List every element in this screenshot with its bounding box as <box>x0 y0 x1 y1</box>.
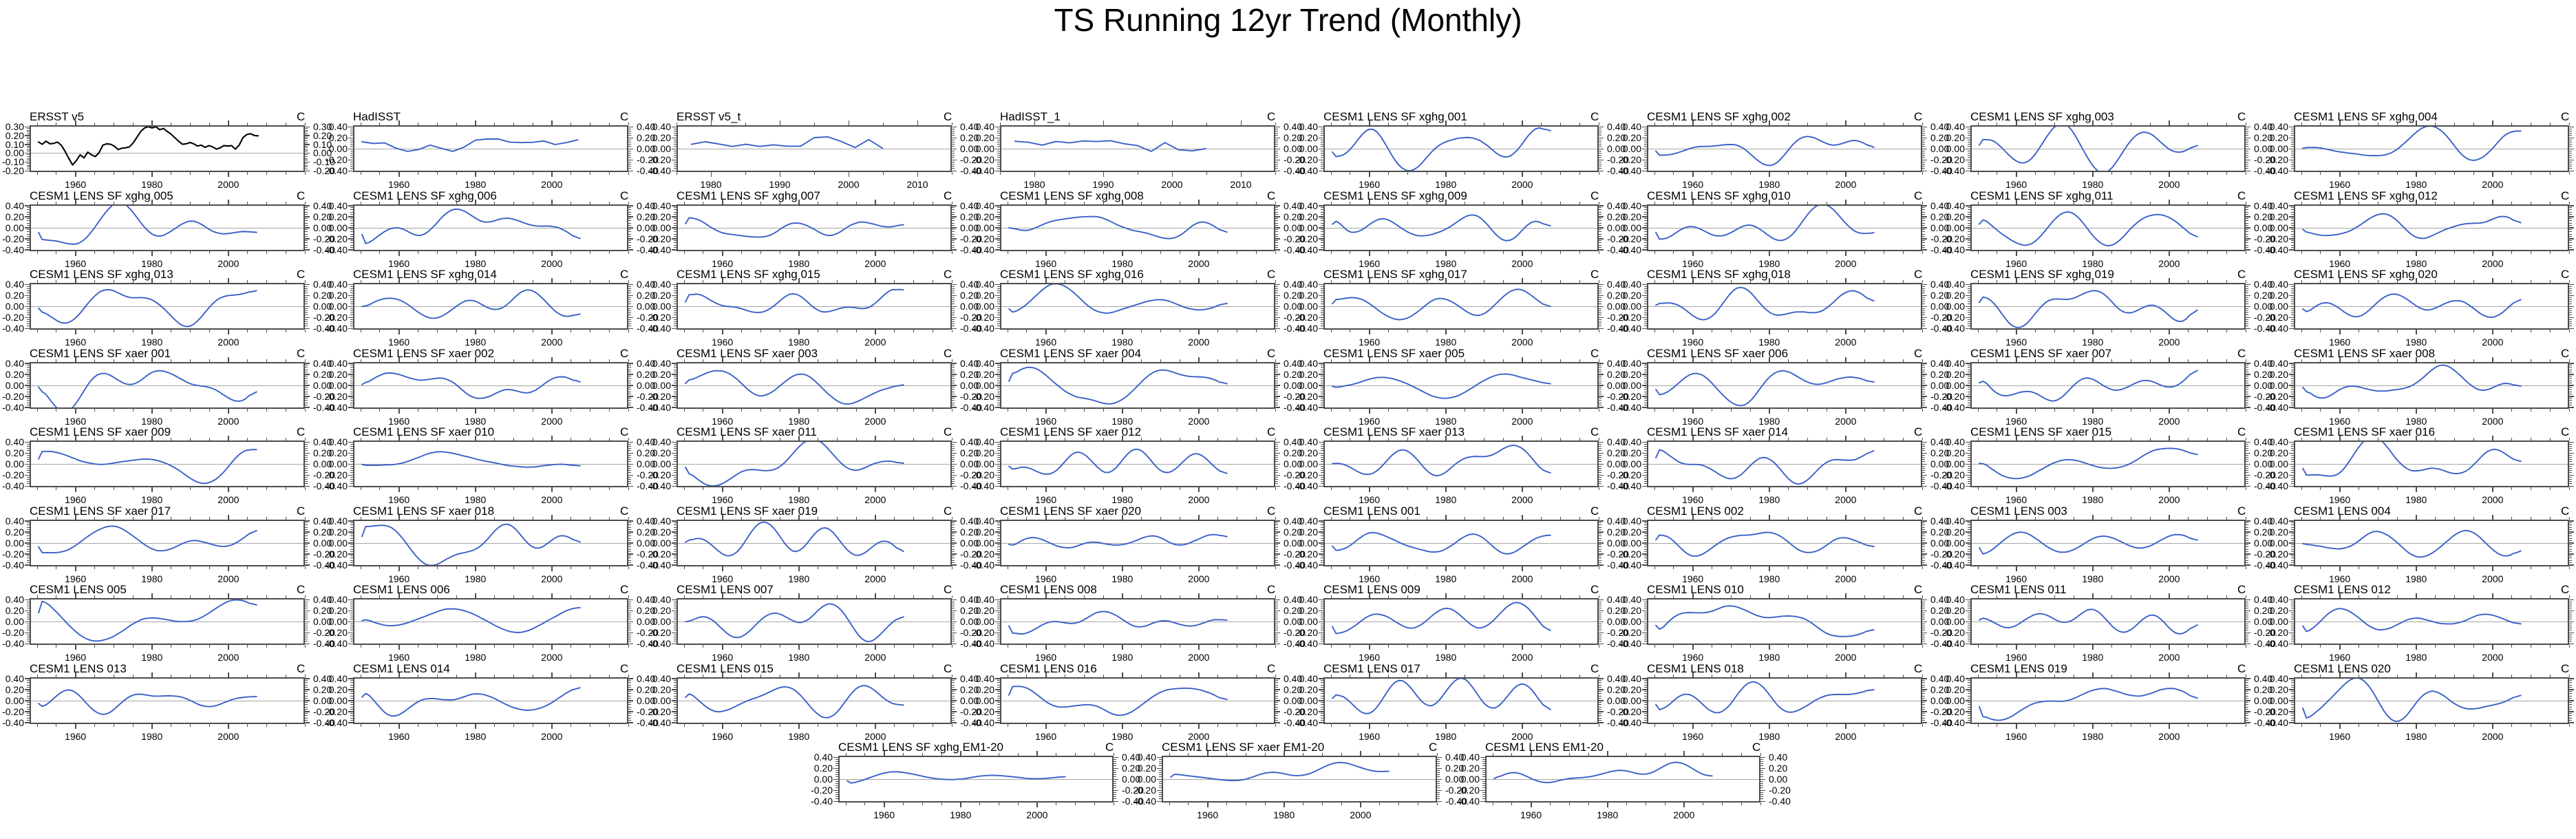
panel-cesm1-lens-sf-xaer-013: CESM1 LENS SF xaer 013C0.400.200.00-0.20… <box>1323 440 1599 487</box>
y-axis-labels-left: 0.400.200.00-0.20-0.40 <box>321 520 348 566</box>
x-tick-label: 2000 <box>2158 574 2180 584</box>
panel-title: CESM1 LENS 020 <box>2294 663 2391 675</box>
x-tick-label: 1960 <box>1359 652 1380 662</box>
y-tick-label: 0.00 <box>1623 696 1641 705</box>
panel-title: CESM1 LENS 002 <box>1647 505 1744 517</box>
panel-unit-label: C <box>2237 111 2246 123</box>
tick-marks <box>1647 362 1922 409</box>
x-tick-label: 1960 <box>388 180 409 189</box>
y-axis-labels-left: 0.400.200.00-0.20-0.40 <box>0 204 24 251</box>
y-tick-label: -0.40 <box>1296 403 1318 412</box>
x-tick-label: 2000 <box>1511 574 1533 584</box>
y-tick-label: 0.00 <box>329 459 348 469</box>
panel-unit-label: C <box>944 663 952 675</box>
panel-title: CESM1 LENS 010 <box>1647 584 1744 595</box>
y-tick-label: -0.40 <box>1296 560 1318 570</box>
panel-cesm1-lens-sf-xghg-011: CESM1 LENS SF xghg 011C0.400.200.00-0.20… <box>1970 204 2246 251</box>
y-axis-labels-left: 0.400.200.00-0.20-0.40 <box>321 677 348 724</box>
x-tick-label: 1980 <box>141 652 162 662</box>
x-tick-label: 1960 <box>1035 416 1056 426</box>
y-tick-label: -0.20 <box>1943 549 1965 559</box>
x-tick-label: 1980 <box>2082 259 2103 268</box>
tick-marks <box>1323 125 1599 172</box>
x-tick-label: 1960 <box>712 652 733 662</box>
panel-cesm1-lens-sf-xaer-003: CESM1 LENS SF xaer 003C0.400.200.00-0.20… <box>677 362 952 409</box>
tick-marks <box>1000 204 1275 251</box>
y-tick-label: 0.40 <box>329 674 348 683</box>
x-tick-label: 1980 <box>465 416 486 426</box>
y-tick-label: 0.20 <box>2270 448 2288 458</box>
x-tick-label: 2000 <box>864 495 886 505</box>
panel-cesm1-lens-005: CESM1 LENS 005C0.400.200.00-0.20-0.400.4… <box>30 598 305 645</box>
y-axis-labels-left: 0.400.200.00-0.20-0.40 <box>645 125 671 172</box>
y-tick-label: 0.40 <box>329 516 348 526</box>
x-tick-label: 1960 <box>2005 337 2027 347</box>
panel-unit-label: C <box>2561 190 2569 202</box>
tick-marks <box>1323 362 1599 409</box>
panel-unit-label: C <box>944 268 952 280</box>
y-tick-label: 0.40 <box>2270 516 2288 526</box>
panel-cesm1-lens-sf-xaer-015: CESM1 LENS SF xaer 015C0.400.200.00-0.20… <box>1970 440 2246 487</box>
y-tick-label: 0.40 <box>2270 359 2288 368</box>
y-tick-label: -0.20 <box>1619 470 1641 480</box>
x-tick-label: 1980 <box>1435 732 1456 741</box>
y-tick-label: 0.20 <box>6 212 24 222</box>
x-tick-label: 2000 <box>1511 416 1533 426</box>
y-tick-label: 0.40 <box>329 201 348 211</box>
x-tick-label: 2000 <box>541 416 562 426</box>
y-tick-label: -0.40 <box>1943 323 1965 333</box>
y-axis-labels-left: 0.400.200.00-0.20-0.40 <box>968 283 994 330</box>
x-tick-label: 1960 <box>2005 259 2027 268</box>
y-tick-label: 0.40 <box>1299 437 1318 447</box>
y-tick-label: 0.20 <box>6 606 24 615</box>
y-tick-label: 0.00 <box>1623 381 1641 390</box>
y-tick-label: 0.00 <box>1461 774 1480 784</box>
x-tick-label: 1960 <box>388 337 409 347</box>
x-tick-label: 1980 <box>950 810 971 820</box>
x-tick-label: 2000 <box>1350 810 1371 820</box>
y-tick-label: 0.20 <box>2270 133 2288 142</box>
tick-marks <box>1323 283 1599 330</box>
y-tick-label: -0.20 <box>649 155 671 164</box>
x-tick-label: 1960 <box>2329 495 2350 505</box>
x-tick-label: 1980 <box>2082 337 2103 347</box>
y-tick-label: -0.40 <box>326 481 348 491</box>
y-axis-labels-left: 0.400.200.00-0.20-0.40 <box>807 756 833 803</box>
tick-marks <box>1970 204 2246 251</box>
x-tick-label: 1980 <box>2405 259 2427 268</box>
y-tick-label: 0.40 <box>652 437 671 447</box>
x-tick-label: 1960 <box>388 495 409 505</box>
y-tick-label: -0.40 <box>326 245 348 255</box>
y-tick-label: 0.20 <box>2270 290 2288 300</box>
panel-cesm1-lens-sf-xaer-002: CESM1 LENS SF xaer 002C0.400.200.00-0.20… <box>353 362 628 409</box>
y-axis-labels-left: 0.400.200.00-0.20-0.40 <box>1939 362 1965 409</box>
y-axis-labels-left: 0.400.200.00-0.20-0.40 <box>1454 756 1480 803</box>
panel-unit-label: C <box>944 584 952 595</box>
x-tick-label: 1980 <box>1111 259 1133 268</box>
panel-hadisst-1: HadISST_1C0.400.200.00-0.20-0.400.400.20… <box>1000 125 1275 172</box>
y-tick-label: -0.20 <box>2 628 24 637</box>
x-tick-label: 1960 <box>712 416 733 426</box>
panel-unit-label: C <box>297 268 305 280</box>
y-tick-label: 0.20 <box>652 527 671 537</box>
y-axis-labels-left: 0.400.200.00-0.20-0.40 <box>968 204 994 251</box>
y-tick-label: -0.40 <box>2266 245 2288 255</box>
y-tick-label: -0.40 <box>972 323 994 333</box>
x-tick-label: 1980 <box>700 180 721 189</box>
y-tick-label: -0.40 <box>649 245 671 255</box>
y-tick-label: 0.20 <box>329 212 348 222</box>
tick-marks <box>1000 283 1275 330</box>
y-tick-label: 0.00 <box>652 381 671 390</box>
panel-unit-label: C <box>620 426 628 438</box>
x-tick-label: 1980 <box>788 652 809 662</box>
y-tick-label: -0.20 <box>972 628 994 637</box>
tick-marks <box>677 520 952 566</box>
y-axis-labels-left: 0.400.200.00-0.20-0.40 <box>1939 283 1965 330</box>
tick-marks <box>677 283 952 330</box>
x-tick-label: 2000 <box>864 259 886 268</box>
y-tick-label: 0.00 <box>2270 144 2288 153</box>
x-tick-label: 1980 <box>788 732 809 741</box>
panel-unit-label: C <box>2237 663 2246 675</box>
y-tick-label: 0.00 <box>1946 223 1965 233</box>
y-tick-label: 0.40 <box>2270 201 2288 211</box>
x-tick-label: 2000 <box>1188 259 1209 268</box>
x-tick-label: 1980 <box>465 732 486 741</box>
tick-marks <box>2294 440 2569 487</box>
y-tick-label: 0.40 <box>1299 595 1318 604</box>
x-tick-label: 1960 <box>65 495 86 505</box>
y-tick-label: 0.20 <box>976 685 994 694</box>
panel-title: CESM1 LENS SF xaer 015 <box>1970 426 2111 438</box>
panel-cesm1-lens-010: CESM1 LENS 010C0.400.200.00-0.20-0.400.4… <box>1647 598 1922 645</box>
x-tick-label: 1980 <box>1435 259 1456 268</box>
y-tick-label: 0.40 <box>1299 279 1318 289</box>
y-axis-labels-left: 0.400.200.00-0.20-0.40 <box>645 204 671 251</box>
panel-cesm1-lens-sf-xghg-019: CESM1 LENS SF xghg 019C0.400.200.00-0.20… <box>1970 283 2246 330</box>
x-tick-label: 2000 <box>2158 416 2180 426</box>
y-tick-label: 0.00 <box>1138 774 1156 784</box>
x-tick-label: 2000 <box>217 574 239 584</box>
x-tick-label: 2000 <box>1835 652 1856 662</box>
x-tick-label: 2000 <box>2482 732 2503 741</box>
y-tick-label: 0.00 <box>1299 459 1318 469</box>
x-tick-label: 2000 <box>2482 416 2503 426</box>
panel-unit-label: C <box>620 348 628 359</box>
y-tick-label: 0.40 <box>1946 595 1965 604</box>
y-tick-label: 0.00 <box>1623 538 1641 548</box>
y-axis-labels-left: 0.400.200.00-0.20-0.40 <box>1292 362 1318 409</box>
panel-unit-label: C <box>944 190 952 202</box>
panel-title: CESM1 LENS SF xaer 017 <box>30 505 171 517</box>
x-tick-label: 2000 <box>1161 180 1182 189</box>
y-tick-label: 0.40 <box>1299 674 1318 683</box>
y-axis-labels-left: 0.400.200.00-0.20-0.40 <box>1939 677 1965 724</box>
y-tick-label: 0.20 <box>976 290 994 300</box>
x-tick-label: 1980 <box>2082 652 2103 662</box>
y-axis-labels-left: 0.400.200.00-0.20-0.40 <box>1615 204 1641 251</box>
x-tick-label: 1980 <box>465 337 486 347</box>
y-axis-labels-left: 0.300.200.100.00-0.10-0.20 <box>0 125 24 172</box>
x-tick-label: 2000 <box>1835 416 1856 426</box>
y-tick-label: -0.40 <box>972 560 994 570</box>
y-axis-labels-left: 0.400.200.00-0.20-0.40 <box>968 440 994 487</box>
panel-cesm1-lens-sf-xaer-020: CESM1 LENS SF xaer 020C0.400.200.00-0.20… <box>1000 520 1275 566</box>
y-tick-label: 0.40 <box>1138 752 1156 762</box>
y-tick-label: 0.20 <box>1623 370 1641 379</box>
y-tick-label: -0.40 <box>326 166 348 176</box>
panel-unit-label: C <box>2237 584 2246 595</box>
tick-marks <box>1000 440 1275 487</box>
y-tick-label: -0.20 <box>2266 470 2288 480</box>
y-tick-label: 0.00 <box>6 459 24 469</box>
panel-cesm1-lens-003: CESM1 LENS 003C0.400.200.00-0.20-0.400.4… <box>1970 520 2246 566</box>
y-tick-label: 0.40 <box>652 122 671 131</box>
y-tick-label: 0.40 <box>1623 437 1641 447</box>
y-tick-label: 0.00 <box>652 538 671 548</box>
panel-title: CESM1 LENS 012 <box>2294 584 2391 595</box>
tick-marks <box>838 756 1114 803</box>
panel-unit-label: C <box>1590 663 1599 675</box>
x-tick-label: 1960 <box>1035 652 1056 662</box>
tick-marks <box>353 598 628 645</box>
x-tick-label: 1980 <box>1758 574 1780 584</box>
y-tick-label: 0.40 <box>2270 595 2288 604</box>
x-tick-label: 1980 <box>141 732 162 741</box>
y-tick-label: 0.40 <box>329 359 348 368</box>
x-tick-label: 2000 <box>2482 180 2503 189</box>
x-tick-label: 2000 <box>2482 337 2503 347</box>
y-tick-label: 0.40 <box>6 279 24 289</box>
x-tick-label: 2000 <box>217 259 239 268</box>
y-tick-label: -0.40 <box>649 639 671 648</box>
y-axis-labels-left: 0.400.200.00-0.20-0.40 <box>1615 362 1641 409</box>
x-tick-label: 1980 <box>465 259 486 268</box>
x-tick-label: 1980 <box>1758 732 1780 741</box>
y-tick-label: 0.20 <box>1299 212 1318 222</box>
y-tick-label: 0.20 <box>329 606 348 615</box>
panel-unit-label: C <box>297 426 305 438</box>
tick-marks <box>1970 677 2246 724</box>
y-axis-labels-left: 0.400.200.00-0.20-0.40 <box>1615 677 1641 724</box>
x-tick-label: 2000 <box>1835 495 1856 505</box>
tick-marks <box>353 362 628 409</box>
y-tick-label: 0.20 <box>6 527 24 537</box>
y-axis-labels-left: 0.400.200.00-0.20-0.40 <box>2262 440 2288 487</box>
x-tick-label: 2000 <box>2158 259 2180 268</box>
y-tick-label: 0.40 <box>6 674 24 683</box>
y-tick-label: -0.40 <box>972 403 994 412</box>
panel-cesm1-lens-009: CESM1 LENS 009C0.400.200.00-0.20-0.400.4… <box>1323 598 1599 645</box>
panel-unit-label: C <box>1267 663 1275 675</box>
panel-unit-label: C <box>1267 348 1275 359</box>
y-tick-label: 0.00 <box>329 538 348 548</box>
tick-marks <box>677 125 952 172</box>
panel-cesm1-lens-sf-xaer-016: CESM1 LENS SF xaer 016C0.400.200.00-0.20… <box>2294 440 2569 487</box>
x-tick-label: 2000 <box>217 732 239 741</box>
y-tick-label: -0.20 <box>1619 234 1641 244</box>
y-tick-label: -0.20 <box>326 628 348 637</box>
y-tick-label: 0.00 <box>2270 459 2288 469</box>
y-tick-label: 0.40 <box>976 359 994 368</box>
y-tick-label: 0.20 <box>1299 606 1318 615</box>
tick-marks <box>1000 125 1275 172</box>
y-axis-labels-left: 0.400.200.00-0.20-0.40 <box>1615 440 1641 487</box>
y-tick-label: -0.40 <box>1296 718 1318 728</box>
panel-title: CESM1 LENS SF xaer 008 <box>2294 348 2435 359</box>
y-axis-labels-left: 0.400.200.00-0.20-0.40 <box>1615 283 1641 330</box>
x-tick-label: 1960 <box>2329 259 2350 268</box>
y-tick-label: 0.20 <box>1946 685 1965 694</box>
y-tick-label: 0.20 <box>1138 763 1156 773</box>
y-axis-labels-left: 0.400.200.00-0.20-0.40 <box>2262 362 2288 409</box>
panel-cesm1-lens-sf-xghg-003: CESM1 LENS SF xghg 003C0.400.200.00-0.20… <box>1970 125 2246 172</box>
y-tick-label: 0.00 <box>1623 459 1641 469</box>
tick-marks <box>1647 520 1922 566</box>
y-tick-label: 0.40 <box>1946 516 1965 526</box>
y-tick-label: 0.00 <box>1299 381 1318 390</box>
tick-marks <box>1162 756 1437 803</box>
y-tick-label: 0.40 <box>2270 674 2288 683</box>
x-tick-label: 1960 <box>65 732 86 741</box>
tick-marks <box>677 362 952 409</box>
x-tick-label: 1960 <box>2329 337 2350 347</box>
x-tick-label: 1980 <box>1597 810 1618 820</box>
x-tick-label: 1960 <box>2005 652 2027 662</box>
panel-cesm1-lens-sf-xghg-012: CESM1 LENS SF xghg 012C0.400.200.00-0.20… <box>2294 204 2569 251</box>
y-axis-labels-left: 0.400.200.00-0.20-0.40 <box>2262 283 2288 330</box>
y-axis-labels-left: 0.400.200.00-0.20-0.40 <box>0 598 24 645</box>
x-tick-label: 1960 <box>388 416 409 426</box>
y-tick-label: 0.20 <box>329 133 348 142</box>
tick-marks <box>353 520 628 566</box>
panel-title: CESM1 LENS 009 <box>1323 584 1420 595</box>
panel-unit-label: C <box>2237 426 2246 438</box>
y-tick-label: 0.40 <box>1946 674 1965 683</box>
y-axis-labels-left: 0.400.200.00-0.20-0.40 <box>2262 125 2288 172</box>
y-tick-label: -0.40 <box>326 639 348 648</box>
tick-marks <box>677 440 952 487</box>
y-tick-label: -0.20 <box>1296 234 1318 244</box>
panel-title: CESM1 LENS 006 <box>353 584 450 595</box>
y-tick-label: 0.00 <box>1299 696 1318 705</box>
y-tick-label: 0.20 <box>976 370 994 379</box>
y-tick-label: -0.40 <box>972 718 994 728</box>
tick-marks <box>1970 362 2246 409</box>
x-tick-label: 2000 <box>1188 732 1209 741</box>
x-tick-label: 1980 <box>465 495 486 505</box>
panel-cesm1-lens-sf-xghg-018: CESM1 LENS SF xghg 018C0.400.200.00-0.20… <box>1647 283 1922 330</box>
y-tick-label: 0.00 <box>2270 617 2288 626</box>
y-tick-label: 0.20 <box>976 606 994 615</box>
y-tick-label: -0.20 <box>972 549 994 559</box>
y-tick-label: 0.40 <box>1946 122 1965 131</box>
x-tick-label: 1980 <box>1023 180 1045 189</box>
y-tick-label: 0.20 <box>329 527 348 537</box>
y-tick-label: -0.40 <box>2 718 24 728</box>
tick-marks <box>1000 520 1275 566</box>
panel-cesm1-lens-sf-xghg-014: CESM1 LENS SF xghg 014C0.400.200.00-0.20… <box>353 283 628 330</box>
y-tick-label: 0.20 <box>652 133 671 142</box>
panel-cesm1-lens-sf-xaer-005: CESM1 LENS SF xaer 005C0.400.200.00-0.20… <box>1323 362 1599 409</box>
panel-title: CESM1 LENS SF xaer 016 <box>2294 426 2435 438</box>
y-axis-labels-right: 0.400.200.00-0.20-0.40 <box>1769 756 1796 803</box>
tick-marks <box>1647 204 1922 251</box>
y-axis-labels-left: 0.400.200.00-0.20-0.40 <box>968 125 994 172</box>
tick-marks <box>1647 440 1922 487</box>
x-tick-label: 2000 <box>864 337 886 347</box>
x-tick-label: 1980 <box>2405 652 2427 662</box>
tick-marks <box>30 283 305 330</box>
y-tick-label: -0.20 <box>649 707 671 716</box>
panel-unit-label: C <box>620 111 628 123</box>
y-axis-labels-left: 0.400.200.00-0.20-0.40 <box>321 204 348 251</box>
y-tick-label: 0.00 <box>814 774 833 784</box>
y-tick-label: 0.00 <box>976 144 994 153</box>
y-tick-label: -0.20 <box>326 155 348 164</box>
y-tick-label: 0.40 <box>1946 437 1965 447</box>
y-axis-labels-left: 0.400.200.00-0.20-0.40 <box>968 520 994 566</box>
y-axis-labels-left: 0.400.200.00-0.20-0.40 <box>2262 677 2288 724</box>
y-tick-label: -0.20 <box>1296 392 1318 401</box>
y-tick-label: 0.40 <box>1623 279 1641 289</box>
panel-cesm1-lens-sf-xaer-010: CESM1 LENS SF xaer 010C0.400.200.00-0.20… <box>353 440 628 487</box>
x-tick-label: 2010 <box>1230 180 1251 189</box>
panel-title: CESM1 LENS 005 <box>30 584 127 595</box>
y-axis-labels-left: 0.400.200.00-0.20-0.40 <box>321 598 348 645</box>
y-axis-labels-left: 0.400.200.00-0.20-0.40 <box>0 677 24 724</box>
panel-unit-label: C <box>1914 426 1922 438</box>
x-tick-label: 2000 <box>217 416 239 426</box>
x-tick-label: 1980 <box>2405 416 2427 426</box>
x-tick-label: 1960 <box>712 574 733 584</box>
y-tick-label: 0.40 <box>1461 752 1480 762</box>
tick-marks <box>677 598 952 645</box>
y-axis-labels-left: 0.400.200.00-0.20-0.40 <box>0 520 24 566</box>
x-axis-labels: 196019802000 <box>2294 732 2569 744</box>
x-tick-label: 1960 <box>388 652 409 662</box>
y-tick-label: -0.40 <box>1619 166 1641 176</box>
y-tick-label: -0.20 <box>2266 392 2288 401</box>
y-tick-label: -0.40 <box>1943 639 1965 648</box>
x-tick-label: 1980 <box>2082 574 2103 584</box>
tick-marks <box>1000 362 1275 409</box>
y-tick-label: 0.00 <box>2270 381 2288 390</box>
y-axis-labels-left: 0.400.200.00-0.20-0.40 <box>2262 520 2288 566</box>
y-tick-label: -0.20 <box>649 628 671 637</box>
panel-cesm1-lens-sf-xghg-008: CESM1 LENS SF xghg 008C0.400.200.00-0.20… <box>1000 204 1275 251</box>
tick-marks <box>353 204 628 251</box>
panel-cesm1-lens-sf-xghg-009: CESM1 LENS SF xghg 009C0.400.200.00-0.20… <box>1323 204 1599 251</box>
y-axis-labels-left: 0.400.200.00-0.20-0.40 <box>1939 520 1965 566</box>
y-tick-label: 0.00 <box>1623 617 1641 626</box>
y-tick-label: -0.20 <box>326 392 348 401</box>
x-axis-labels: 196019802000 <box>838 810 1114 822</box>
y-tick-label: -0.20 <box>2266 155 2288 164</box>
y-tick-label: -0.40 <box>1619 323 1641 333</box>
y-tick-label: 0.20 <box>1769 763 1787 773</box>
y-tick-label: 0.20 <box>1946 370 1965 379</box>
x-tick-label: 2000 <box>541 259 562 268</box>
panel-cesm1-lens-sf-xghg-010: CESM1 LENS SF xghg 010C0.400.200.00-0.20… <box>1647 204 1922 251</box>
y-tick-label: 0.40 <box>2270 437 2288 447</box>
panel-cesm1-lens-sf-xaer-006: CESM1 LENS SF xaer 006C0.400.200.00-0.20… <box>1647 362 1922 409</box>
y-tick-label: -0.40 <box>326 403 348 412</box>
y-tick-label: 0.20 <box>1299 448 1318 458</box>
